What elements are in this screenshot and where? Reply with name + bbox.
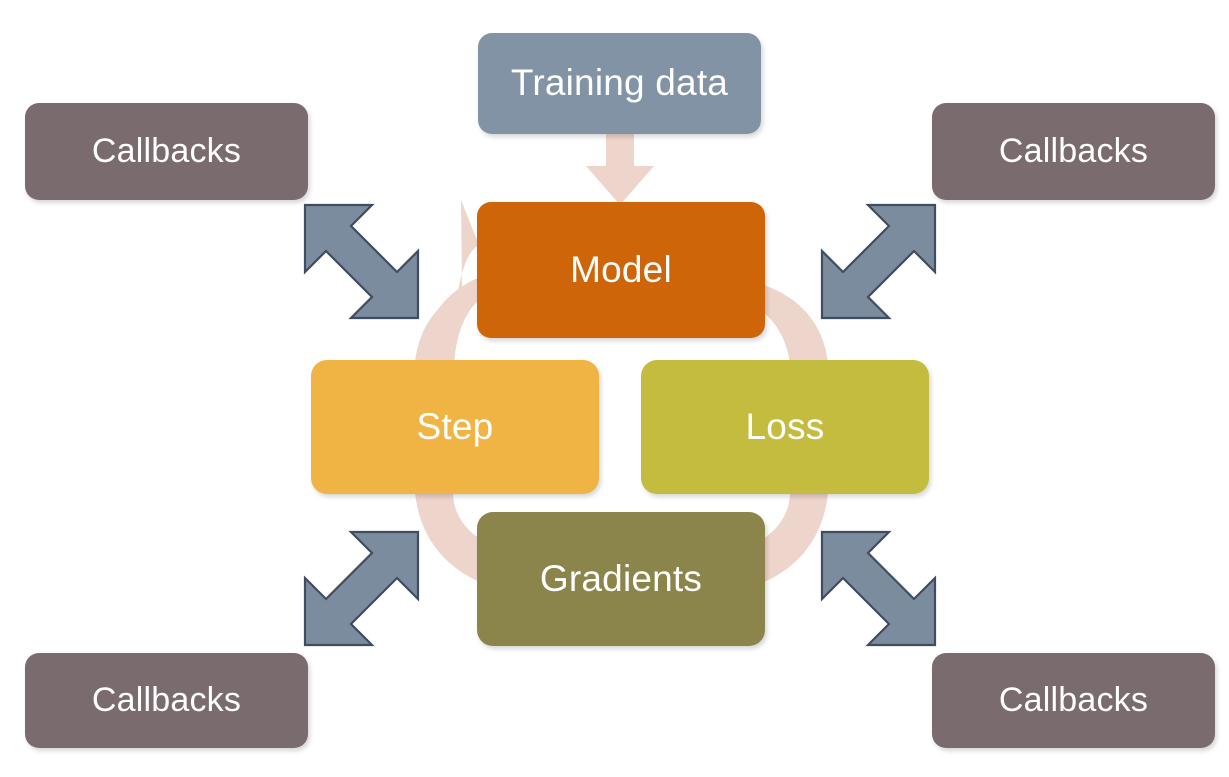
node-model-label: Model [570,250,672,291]
node-callbacks-top-right[interactable]: Callbacks [932,103,1215,200]
node-callbacks-top-left[interactable]: Callbacks [25,103,308,200]
node-gradients[interactable]: Gradients [477,512,765,646]
callbacks-top-left-double-arrow [305,205,418,318]
callbacks-top-right-double-arrow [822,205,935,318]
node-step-label: Step [417,407,494,448]
callbacks-bottom-left-double-arrow [305,532,418,645]
node-callbacks-bottom-left-label: Callbacks [92,682,241,719]
node-callbacks-bottom-right-label: Callbacks [999,682,1148,719]
callbacks-bottom-right-double-arrow [822,532,935,645]
node-training-data[interactable]: Training data [478,33,761,134]
node-model[interactable]: Model [477,202,765,338]
node-callbacks-top-left-label: Callbacks [92,133,241,170]
node-loss[interactable]: Loss [641,360,929,494]
training-data-to-model-arrow [586,134,654,205]
node-callbacks-top-right-label: Callbacks [999,133,1148,170]
node-step[interactable]: Step [311,360,599,494]
node-gradients-label: Gradients [540,559,702,600]
node-callbacks-bottom-right[interactable]: Callbacks [932,653,1215,748]
node-training-data-label: Training data [511,63,728,104]
node-callbacks-bottom-left[interactable]: Callbacks [25,653,308,748]
diagram-canvas: Training data Model Step Loss Gradients … [0,0,1229,777]
node-loss-label: Loss [746,407,825,448]
